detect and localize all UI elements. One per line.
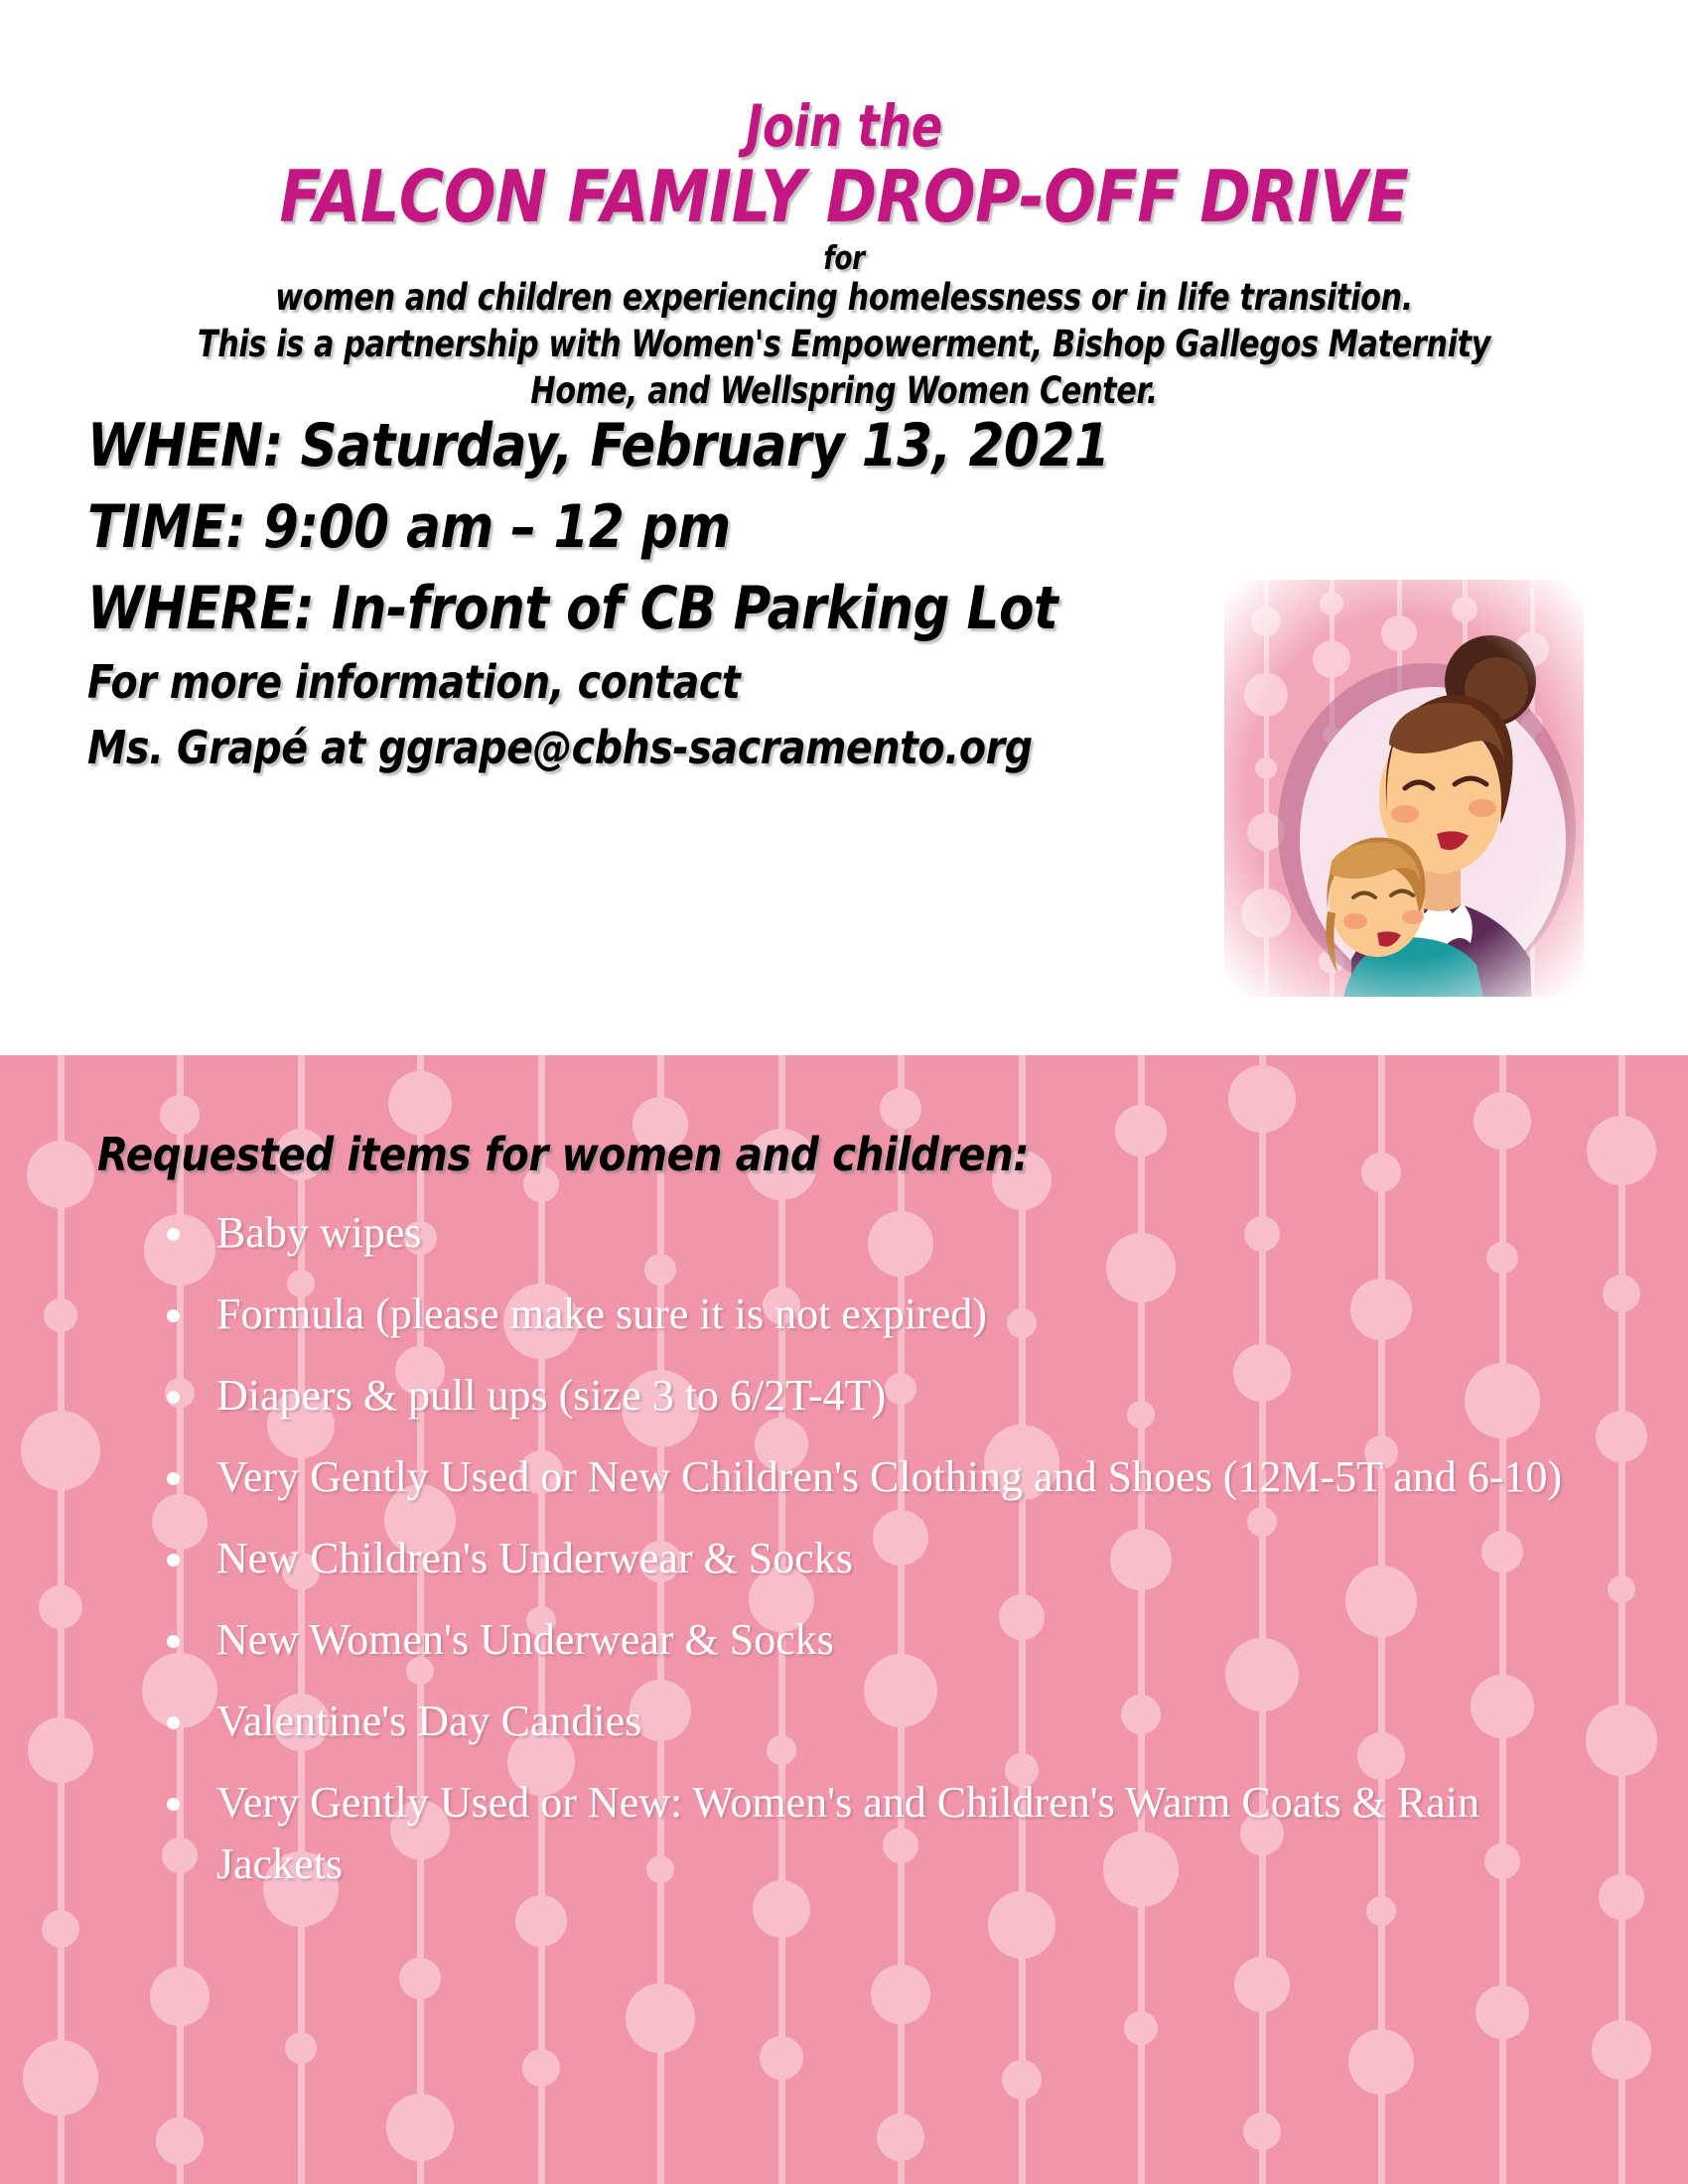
bullet-icon [167,1798,180,1811]
bullet-icon [167,1472,180,1485]
bullet-icon [167,1391,180,1404]
bullet-icon [167,1554,180,1567]
list-item-label: Baby wipes [216,1208,422,1257]
requested-items-list: Baby wipes Formula (please make sure it … [159,1202,1569,1915]
event-details: WHEN: Saturday, February 13, 2021 TIME: … [87,405,1180,780]
detail-time: TIME: 9:00 am – 12 pm [87,486,1027,568]
list-item-label: Formula (please make sure it is not expi… [216,1290,987,1338]
detail-where: WHERE: In-front of CB Parking Lot [87,568,1027,649]
bullet-icon [167,1716,180,1729]
audience-line: women and children experiencing homeless… [152,274,1536,321]
event-title: FALCON FAMILY DROP-OFF DRIVE [118,157,1570,236]
detail-when: WHEN: Saturday, February 13, 2021 [87,405,1027,486]
flyer-header-section: Join the FALCON FAMILY DROP-OFF DRIVE fo… [0,0,1688,1055]
list-item: New Women's Underwear & Socks [159,1609,1569,1671]
intro-paragraph: women and children experiencing homeless… [152,274,1536,414]
bullet-icon [167,1635,180,1648]
partnership-line-1: This is a partnership with Women's Empow… [152,321,1536,367]
join-the-line: Join the [169,95,1519,157]
list-item: Valentine's Day Candies [159,1691,1569,1752]
list-item: Very Gently Used or New Children's Cloth… [159,1446,1569,1508]
list-item-label: New Women's Underwear & Socks [216,1615,834,1664]
requested-items-section: Requested items for women and children: … [0,1055,1688,2184]
list-item: Formula (please make sure it is not expi… [159,1284,1569,1345]
list-item-label: New Children's Underwear & Socks [216,1534,853,1582]
for-label: for [169,238,1519,278]
list-item-label: Very Gently Used or New Children's Cloth… [216,1452,1562,1501]
contact-intro: For more information, contact [87,649,1027,715]
list-item: Baby wipes [159,1202,1569,1264]
bullet-icon [167,1228,180,1241]
list-item: New Children's Underwear & Socks [159,1528,1569,1589]
list-item: Very Gently Used or New: Women's and Chi… [159,1772,1569,1895]
mother-and-child-illustration [1202,564,1605,1011]
contact-email: Ms. Grapé at ggrape@cbhs-sacramento.org [87,715,1027,780]
list-item-label: Valentine's Day Candies [216,1697,641,1745]
bullet-icon [167,1309,180,1322]
requested-items-heading: Requested items for women and children: [97,1127,1029,1182]
list-item: Diapers & pull ups (size 3 to 6/2T-4T) [159,1365,1569,1427]
list-item-label: Very Gently Used or New: Women's and Chi… [216,1778,1479,1888]
list-item-label: Diapers & pull ups (size 3 to 6/2T-4T) [216,1371,886,1420]
